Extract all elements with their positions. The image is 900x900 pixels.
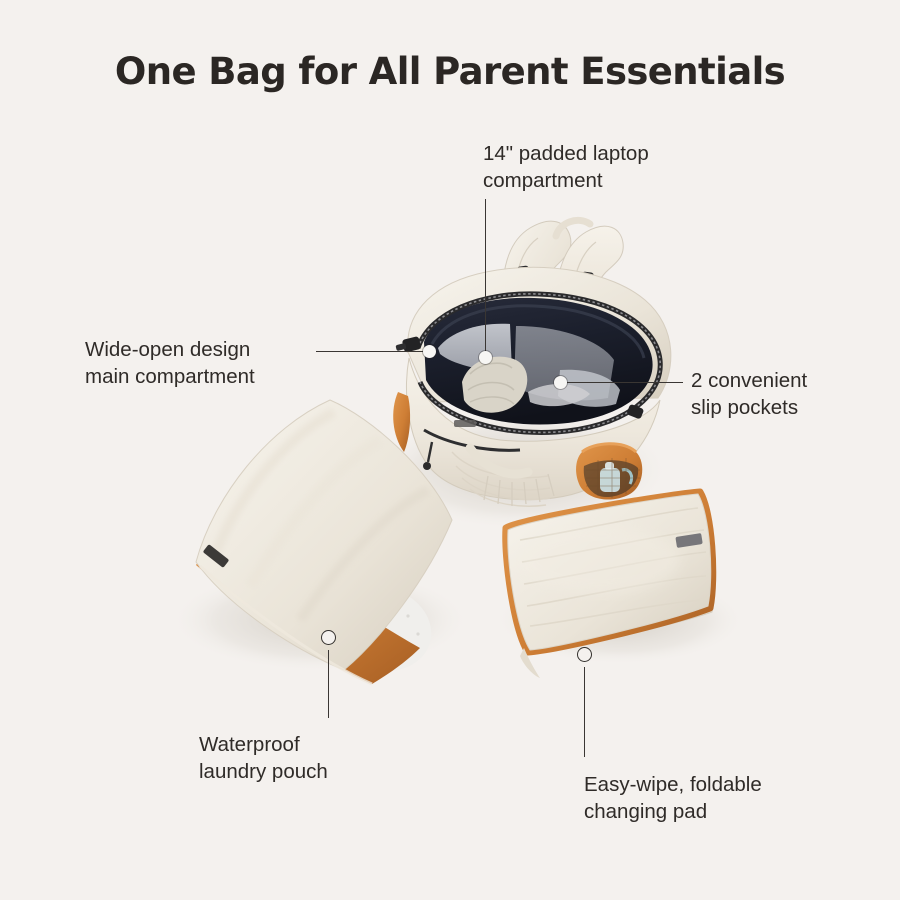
orange-mesh-pouch — [576, 444, 642, 500]
callout-laptop-compartment: 14" padded laptop compartment — [483, 140, 649, 195]
leader-line-laundry-pouch — [328, 650, 329, 718]
backpack-illustration — [393, 220, 671, 506]
leader-line-main-compartment — [316, 351, 429, 352]
product-illustration — [0, 0, 900, 900]
marker-changing-pad — [577, 647, 592, 662]
callout-main-compartment: Wide-open design main compartment — [85, 336, 255, 391]
callout-slip-pockets: 2 convenient slip pockets — [691, 367, 807, 422]
callout-laundry-pouch: Waterproof laundry pouch — [199, 731, 328, 786]
leader-line-laptop-compartment — [485, 199, 486, 357]
infographic-canvas: One Bag for All Parent Essentials — [0, 0, 900, 900]
leader-line-changing-pad — [584, 667, 585, 757]
leader-line-slip-pockets — [567, 382, 683, 383]
marker-slip-pockets — [554, 376, 567, 389]
backpack-brand-tab — [454, 420, 476, 427]
baby-bottle — [600, 468, 620, 492]
marker-laundry-pouch — [321, 630, 336, 645]
callout-changing-pad: Easy-wipe, foldable changing pad — [584, 771, 762, 826]
marker-laptop-compartment — [479, 351, 492, 364]
marker-main-compartment — [423, 345, 436, 358]
